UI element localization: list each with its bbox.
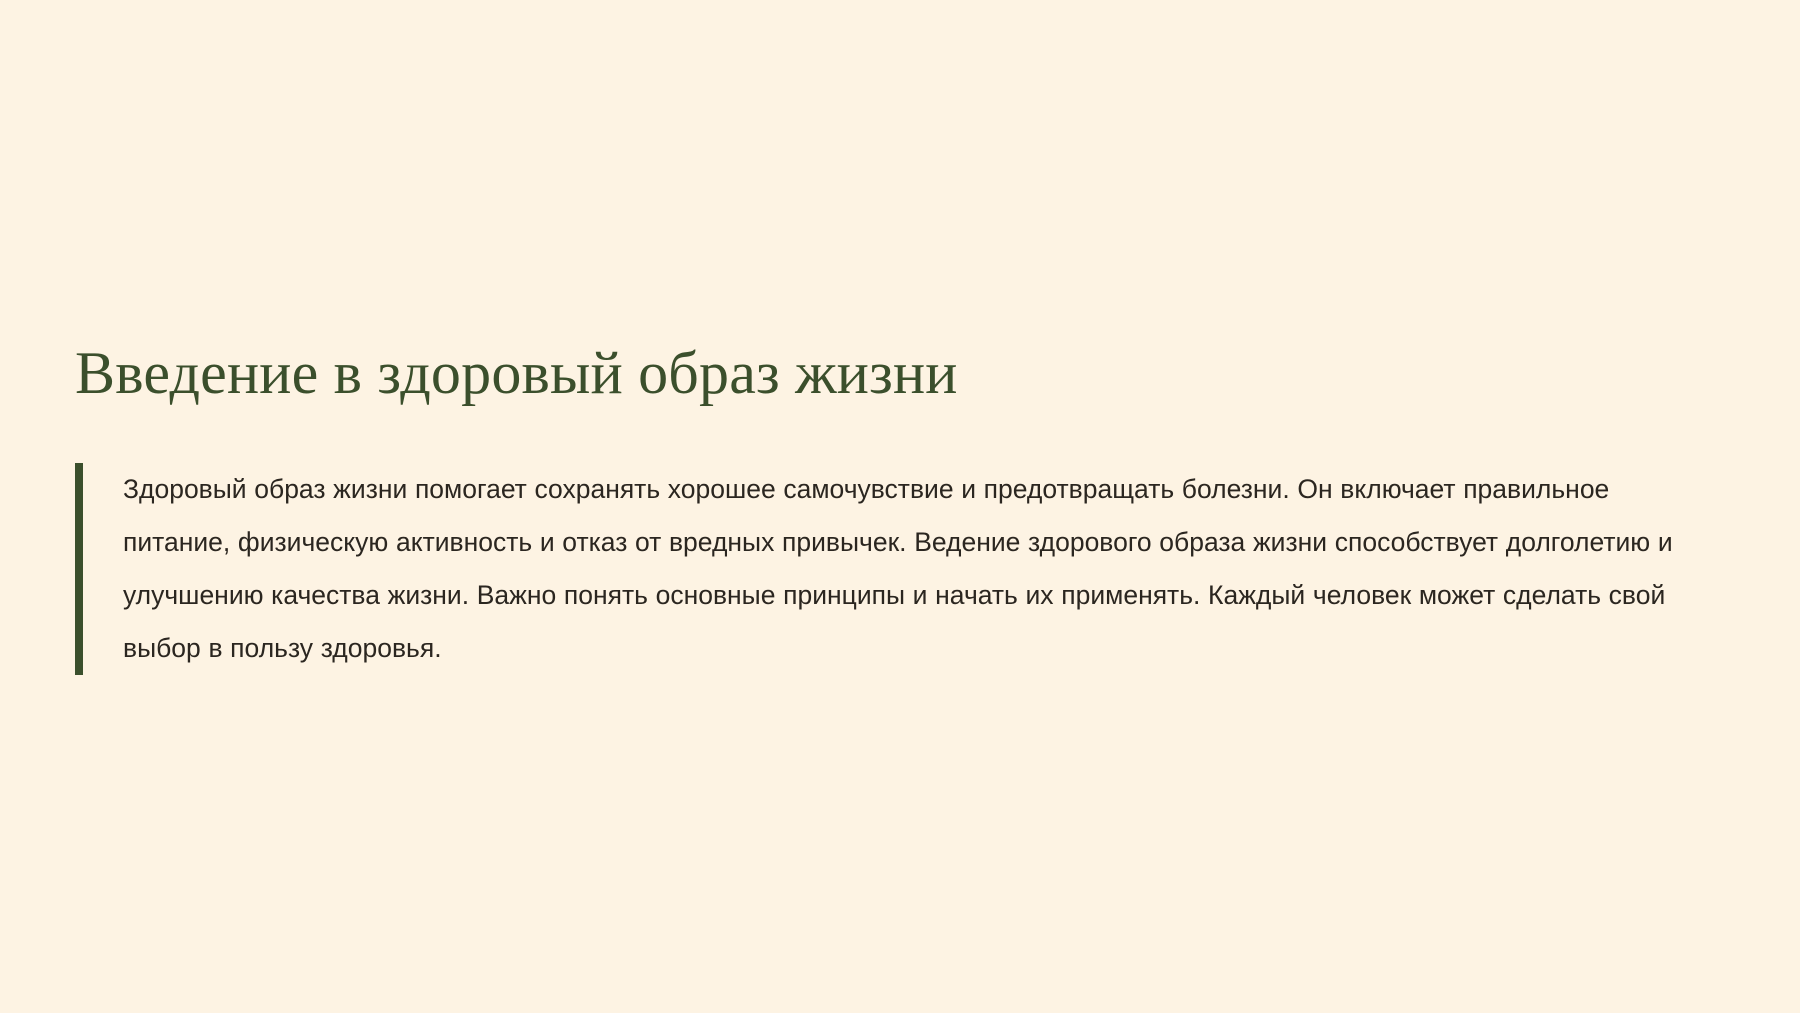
accent-bar <box>75 463 83 675</box>
intro-paragraph: Здоровый образ жизни помогает сохранять … <box>123 463 1705 675</box>
document-page: Введение в здоровый образ жизни Здоровый… <box>0 0 1800 1013</box>
highlighted-intro-block: Здоровый образ жизни помогает сохранять … <box>75 463 1705 675</box>
article-content: Введение в здоровый образ жизни Здоровый… <box>75 340 1705 675</box>
page-title: Введение в здоровый образ жизни <box>75 340 1705 407</box>
